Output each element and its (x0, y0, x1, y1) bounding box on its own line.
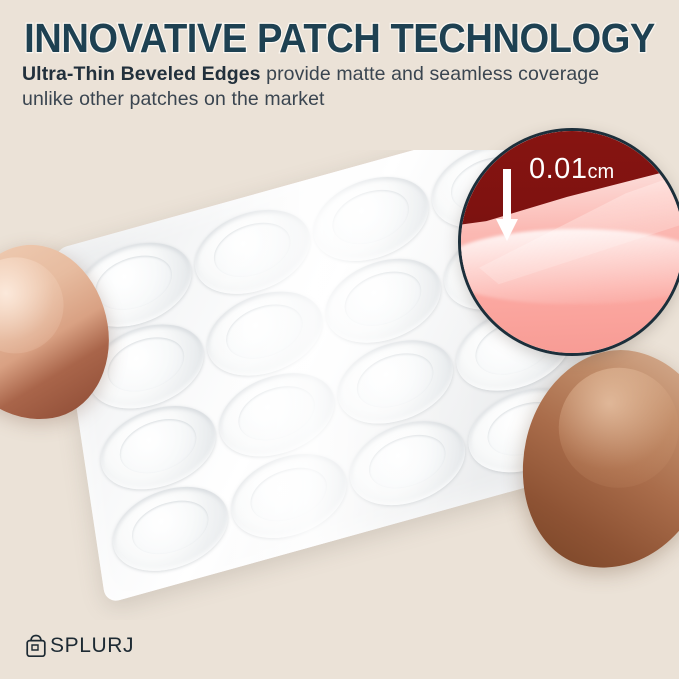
patch-circle (189, 197, 315, 306)
bag-logo-icon (25, 634, 47, 658)
magnifier-callout: 0.01cm (458, 128, 679, 356)
brand-name: SPLURJ (50, 634, 134, 658)
patch-circle (308, 164, 434, 273)
patch-circle (202, 279, 328, 388)
page-title: INNOVATIVE PATCH TECHNOLOGY (24, 16, 655, 60)
patch-circle (226, 441, 352, 550)
thickness-label: 0.01cm (529, 153, 614, 188)
subheading-emphasis: Ultra-Thin Beveled Edges (22, 63, 261, 85)
product-marketing-image: INNOVATIVE PATCH TECHNOLOGY Ultra-Thin B… (0, 0, 679, 679)
patch-circle (344, 409, 470, 518)
subheading: Ultra-Thin Beveled Edges provide matte a… (22, 62, 652, 112)
patch-circle (332, 327, 458, 436)
brand-logo: SPLURJ (25, 634, 134, 658)
patch-circle (214, 360, 340, 469)
magnifier-gloss (458, 229, 679, 304)
thickness-value: 0.01 (529, 153, 587, 185)
thickness-unit: cm (587, 161, 614, 183)
patch-circle (95, 393, 221, 502)
patch-circle (107, 474, 233, 583)
down-arrow-icon (495, 169, 519, 243)
patch-circle (320, 246, 446, 355)
